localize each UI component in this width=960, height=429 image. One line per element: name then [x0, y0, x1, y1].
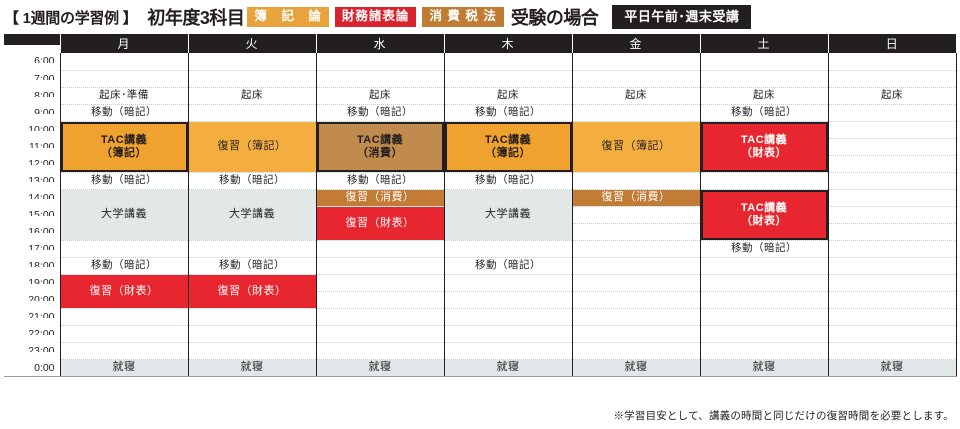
slot-sun-12: [828, 155, 956, 172]
slot-wed-9: 移動（暗記）: [316, 104, 444, 121]
activity-block: 移動（暗記）: [61, 105, 188, 121]
slot-fri-21: [572, 308, 700, 325]
footnote: ※学習目安として、講義の時間と同じだけの復習時間を必要とします。: [613, 408, 954, 423]
slot-sun-15: [828, 206, 956, 223]
time-label: 10:00: [4, 113, 60, 130]
slot-sun-7: [828, 70, 956, 87]
slot-sat-13: [700, 172, 828, 189]
slot-wed-22: [316, 325, 444, 342]
time-label: 21:00: [4, 300, 60, 317]
slot-tue-10-review: 復習（簿記）: [188, 121, 316, 172]
time-label: 20:00: [4, 283, 60, 300]
slot-thu-8: 起床: [444, 87, 572, 104]
activity-block-tac-boki: TAC講義 （簿記）: [445, 122, 572, 172]
slot-thu-19: [444, 274, 572, 291]
time-label: 6:00: [4, 45, 60, 62]
activity-block: 移動（暗記）: [445, 105, 572, 121]
slot-sat-20: [700, 291, 828, 308]
page-root: 【 1週間の学習例 】 初年度3科目 簿 記 論 財務諸表論 消 費 税 法 受…: [0, 0, 960, 429]
activity-block-univ: 大学講義: [445, 190, 572, 240]
slot-fri-15: [572, 206, 700, 223]
slot-mon-18: 移動（暗記）: [60, 257, 188, 274]
activity-line2: （財表）: [741, 215, 787, 228]
slot-fri-20: [572, 291, 700, 308]
slot-fri-19: [572, 274, 700, 291]
slot-thu-9: 移動（暗記）: [444, 104, 572, 121]
activity-block: 移動（暗記）: [701, 241, 828, 257]
activity-block-tac-shohi: TAC講義 （消費）: [317, 122, 444, 172]
activity-block-univ: 大学講義: [61, 190, 188, 240]
table-row: 9:00 移動（暗記） 移動（暗記） 移動（暗記） 移動（暗記）: [4, 104, 956, 121]
time-label: 8:00: [4, 79, 60, 96]
slot-wed-15-review: 復習（財表）: [316, 206, 444, 240]
slot-sun-19: [828, 274, 956, 291]
activity-block: 移動（暗記）: [317, 105, 444, 121]
slot-tue-13: 移動（暗記）: [188, 172, 316, 189]
header-subject-count: 初年度3科目: [147, 4, 244, 30]
activity-block-tac-boki: TAC講義 （簿記）: [61, 122, 188, 172]
slot-wed-17: [316, 240, 444, 257]
activity-block-sleep: 就寝: [317, 360, 444, 376]
slot-fri-7: [572, 70, 700, 87]
slot-sat-6: [700, 53, 828, 70]
header-after-text: 受験の場合: [511, 4, 599, 30]
slot-sun-9: [828, 104, 956, 121]
slot-sun-23: [828, 342, 956, 359]
tag-shohizeiho: 消 費 税 法: [422, 7, 503, 27]
activity-block: 起床: [445, 88, 572, 104]
slot-fri-8: 起床: [572, 87, 700, 104]
slot-tue-18: 移動（暗記）: [188, 257, 316, 274]
activity-block: 起床: [189, 88, 316, 104]
slot-wed-6: [316, 53, 444, 70]
activity-block: 移動（暗記）: [61, 258, 188, 274]
activity-block-sleep: 就寝: [701, 360, 828, 376]
schedule-type-badge: 平日午前･週末受講: [612, 5, 751, 29]
slot-tue-6: [188, 53, 316, 70]
slot-thu-23: [444, 342, 572, 359]
time-label: 18:00: [4, 249, 60, 266]
table-row: 19:00 復習（財表） 復習（財表）: [4, 274, 956, 291]
slot-fri-17: [572, 240, 700, 257]
slot-tue-22: [188, 325, 316, 342]
slot-mon-8: 起床･準備: [60, 87, 188, 104]
slot-fri-18: [572, 257, 700, 274]
activity-block: 起床: [573, 88, 700, 104]
slot-sun-16: [828, 223, 956, 240]
slot-sun-10: [828, 121, 956, 138]
activity-line2: （消費）: [357, 147, 403, 160]
slot-fri-10-review: 復習（簿記）: [572, 121, 700, 172]
activity-block: 起床: [701, 88, 828, 104]
day-header-fri: 金: [572, 34, 700, 53]
activity-block-review-shohi: 復習（消費）: [573, 190, 700, 206]
slot-wed-23: [316, 342, 444, 359]
slot-wed-20: [316, 291, 444, 308]
slot-thu-10-tac: TAC講義 （簿記）: [444, 121, 572, 172]
slot-mon-14-univ: 大学講義: [60, 189, 188, 240]
schedule-table: 月 火 水 木 金 土 日 6:00: [4, 34, 957, 377]
slot-sun-14: [828, 189, 956, 206]
activity-block-sleep: 就寝: [61, 360, 188, 376]
activity-line2: （簿記）: [101, 147, 147, 160]
activity-line2: （簿記）: [485, 147, 531, 160]
slot-fri-0-sleep: 就寝: [572, 359, 700, 376]
time-label: 9:00: [4, 96, 60, 113]
activity-block-review-shohi: 復習（消費）: [317, 190, 444, 206]
slot-sat-9: 移動（暗記）: [700, 104, 828, 121]
slot-sun-22: [828, 325, 956, 342]
slot-mon-0-sleep: 就寝: [60, 359, 188, 376]
slot-mon-22: [60, 325, 188, 342]
header-title: 【 1週間の学習例 】: [4, 7, 137, 28]
slot-mon-21: [60, 308, 188, 325]
slot-fri-6: [572, 53, 700, 70]
slot-tue-0-sleep: 就寝: [188, 359, 316, 376]
day-header-thu: 木: [444, 34, 572, 53]
activity-block: 移動（暗記）: [317, 173, 444, 189]
slot-wed-7: [316, 70, 444, 87]
activity-block-review-zaihyo: 復習（財表）: [189, 275, 316, 308]
slot-sun-17: [828, 240, 956, 257]
slot-thu-20: [444, 291, 572, 308]
schedule-grid: 月 火 水 木 金 土 日 6:00: [4, 34, 956, 377]
slot-thu-21: [444, 308, 572, 325]
activity-line1: TAC講義: [741, 134, 787, 147]
slot-tue-19-review: 復習（財表）: [188, 274, 316, 308]
slot-wed-19: [316, 274, 444, 291]
slot-wed-18: [316, 257, 444, 274]
time-label: 15:00: [4, 198, 60, 215]
slot-sun-8: 起床: [828, 87, 956, 104]
slot-sun-13: [828, 172, 956, 189]
time-label: 16:00: [4, 215, 60, 232]
tag-zaimushohyoron: 財務諸表論: [335, 7, 417, 27]
table-row: 8:00 起床･準備 起床 起床 起床 起床 起床 起床: [4, 87, 956, 104]
slot-wed-21: [316, 308, 444, 325]
slot-wed-10-tac: TAC講義 （消費）: [316, 121, 444, 172]
slot-mon-6: [60, 53, 188, 70]
slot-mon-19-review: 復習（財表）: [60, 274, 188, 308]
activity-block: 移動（暗記）: [189, 258, 316, 274]
slot-tue-9: [188, 104, 316, 121]
table-row: 0:00 就寝 就寝 就寝 就寝 就寝 就寝 就寝: [4, 359, 956, 376]
time-label: 0:00: [4, 351, 60, 368]
slot-sat-7: [700, 70, 828, 87]
slot-thu-13: 移動（暗記）: [444, 172, 572, 189]
slot-sat-23: [700, 342, 828, 359]
activity-block-tac-zaihyo: TAC講義 （財表）: [701, 122, 828, 172]
activity-block-tac-zaihyo: TAC講義 （財表）: [701, 190, 828, 240]
activity-block: 移動（暗記）: [61, 173, 188, 189]
slot-fri-13: [572, 172, 700, 189]
table-row: 14:00 大学講義 大学講義 復習（消費） 大学講義 復習（消費）: [4, 189, 956, 206]
day-header-sat: 土: [700, 34, 828, 53]
header: 【 1週間の学習例 】 初年度3科目 簿 記 論 財務諸表論 消 費 税 法 受…: [0, 0, 960, 34]
activity-block: 起床: [829, 88, 956, 104]
activity-line1: TAC講義: [485, 134, 531, 147]
time-label: 13:00: [4, 164, 60, 181]
slot-thu-6: [444, 53, 572, 70]
slot-sat-21: [700, 308, 828, 325]
time-label: 17:00: [4, 232, 60, 249]
slot-fri-22: [572, 325, 700, 342]
activity-line1: TAC講義: [741, 202, 787, 215]
slot-wed-14-review: 復習（消費）: [316, 189, 444, 206]
activity-block-sleep: 就寝: [573, 360, 700, 376]
time-label: 12:00: [4, 147, 60, 164]
time-label: 11:00: [4, 130, 60, 147]
slot-sat-17: 移動（暗記）: [700, 240, 828, 257]
time-label: 7:00: [4, 62, 60, 79]
table-row: 13:00 移動（暗記） 移動（暗記） 移動（暗記） 移動（暗記）: [4, 172, 956, 189]
activity-block-sleep: 就寝: [189, 360, 316, 376]
slot-fri-9: [572, 104, 700, 121]
slot-fri-14-review: 復習（消費）: [572, 189, 700, 206]
time-label: 14:00: [4, 181, 60, 198]
activity-block: 移動（暗記）: [445, 258, 572, 274]
slot-sun-6: [828, 53, 956, 70]
time-label: 22:00: [4, 317, 60, 334]
slot-tue-7: [188, 70, 316, 87]
activity-block-review-boki: 復習（簿記）: [573, 122, 700, 172]
slot-thu-18: 移動（暗記）: [444, 257, 572, 274]
slot-sat-14-tac: TAC講義 （財表）: [700, 189, 828, 240]
activity-block-review-zaihyo: 復習（財表）: [61, 275, 188, 308]
activity-block: 移動（暗記）: [445, 173, 572, 189]
time-label: 19:00: [4, 266, 60, 283]
slot-sat-0-sleep: 就寝: [700, 359, 828, 376]
table-row: 21:00: [4, 308, 956, 325]
activity-block-review-boki: 復習（簿記）: [189, 122, 316, 172]
activity-line1: TAC講義: [101, 134, 147, 147]
slot-mon-9: 移動（暗記）: [60, 104, 188, 121]
slot-tue-14-univ: 大学講義: [188, 189, 316, 240]
activity-line1: TAC講義: [357, 134, 403, 147]
slot-tue-21: [188, 308, 316, 325]
day-header-sun: 日: [828, 34, 956, 53]
slot-tue-17: [188, 240, 316, 257]
activity-block-univ: 大学講義: [189, 190, 316, 240]
slot-mon-13: 移動（暗記）: [60, 172, 188, 189]
slot-sat-22: [700, 325, 828, 342]
slot-sun-18: [828, 257, 956, 274]
activity-block: 移動（暗記）: [701, 105, 828, 121]
slot-sun-0-sleep: 就寝: [828, 359, 956, 376]
slot-sun-21: [828, 308, 956, 325]
slot-sun-20: [828, 291, 956, 308]
table-row: 18:00 移動（暗記） 移動（暗記） 移動（暗記）: [4, 257, 956, 274]
table-row: 22:00: [4, 325, 956, 342]
slot-mon-17: [60, 240, 188, 257]
slot-mon-10-tac: TAC講義 （簿記）: [60, 121, 188, 172]
slot-thu-14-univ: 大学講義: [444, 189, 572, 240]
slot-mon-23: [60, 342, 188, 359]
slot-wed-8: 起床: [316, 87, 444, 104]
table-row: 17:00 移動（暗記）: [4, 240, 956, 257]
activity-block-review-zaihyo: 復習（財表）: [317, 207, 444, 240]
slot-thu-22: [444, 325, 572, 342]
time-label: 23:00: [4, 334, 60, 351]
day-header-mon: 月: [60, 34, 188, 53]
activity-line2: （財表）: [741, 147, 787, 160]
slot-wed-13: 移動（暗記）: [316, 172, 444, 189]
day-header-tue: 火: [188, 34, 316, 53]
activity-block-sleep: 就寝: [829, 360, 956, 376]
slot-sat-8: 起床: [700, 87, 828, 104]
slot-tue-23: [188, 342, 316, 359]
table-row: 6:00: [4, 53, 956, 70]
slot-sun-11: [828, 138, 956, 155]
slot-thu-0-sleep: 就寝: [444, 359, 572, 376]
activity-block: 起床: [317, 88, 444, 104]
slot-tue-8: 起床: [188, 87, 316, 104]
slot-fri-23: [572, 342, 700, 359]
activity-block: 起床･準備: [61, 88, 188, 104]
slot-wed-0-sleep: 就寝: [316, 359, 444, 376]
slot-sat-18: [700, 257, 828, 274]
table-header-row: 月 火 水 木 金 土 日: [4, 34, 956, 53]
tag-bokiron: 簿 記 論: [247, 7, 329, 27]
slot-thu-7: [444, 70, 572, 87]
day-header-wed: 水: [316, 34, 444, 53]
table-row: 23:00: [4, 342, 956, 359]
slot-mon-7: [60, 70, 188, 87]
activity-block: 移動（暗記）: [189, 173, 316, 189]
slot-sat-10-tac: TAC講義 （財表）: [700, 121, 828, 172]
table-row: 7:00: [4, 70, 956, 87]
table-row: 10:00 TAC講義 （簿記） 復習（簿記） TAC講義 （消費）: [4, 121, 956, 138]
slot-sat-19: [700, 274, 828, 291]
slot-fri-16: [572, 223, 700, 240]
activity-block-sleep: 就寝: [445, 360, 572, 376]
slot-thu-17: [444, 240, 572, 257]
